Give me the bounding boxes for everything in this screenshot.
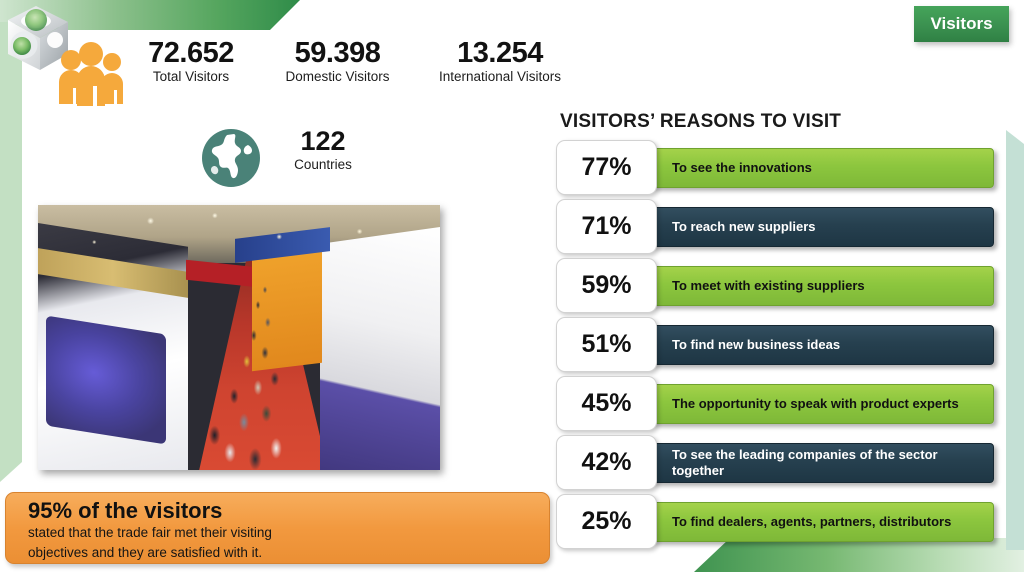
reason-row: To see the leading companies of the sect… [556, 435, 994, 490]
reason-bar: The opportunity to speak with product ex… [651, 384, 994, 424]
countries-text: 122 Countries [268, 127, 378, 172]
reason-row: To reach new suppliers 71% [556, 199, 994, 254]
stat-value: 13.254 [405, 38, 595, 68]
reason-row: To find new business ideas 51% [556, 317, 994, 372]
countries-value: 122 [268, 127, 378, 157]
reason-bar: To find new business ideas [651, 325, 994, 365]
stat-label: Total Visitors [131, 69, 251, 84]
photo-ceiling-lights [38, 205, 440, 470]
satisfaction-callout: 95% of the visitors stated that the trad… [5, 492, 550, 564]
reason-percent-card: 45% [556, 376, 657, 431]
stat-international-visitors: 13.254 International Visitors [405, 38, 595, 84]
reason-row: To find dealers, agents, partners, distr… [556, 494, 994, 549]
reason-text: To meet with existing suppliers [672, 278, 865, 294]
visitors-badge: Visitors [914, 6, 1009, 42]
reasons-list: To see the innovations 77% To reach new … [556, 140, 994, 553]
reason-text: To reach new suppliers [672, 219, 816, 235]
stat-total-visitors: 72.652 Total Visitors [131, 38, 251, 84]
left-green-strip [0, 22, 22, 482]
stat-domestic-visitors: 59.398 Domestic Visitors [260, 38, 415, 84]
reason-percent-card: 77% [556, 140, 657, 195]
callout-line-2: objectives and they are satisfied with i… [28, 544, 549, 563]
reason-bar: To reach new suppliers [651, 207, 994, 247]
visitor-stats: 72.652 Total Visitors 59.398 Domestic Vi… [55, 36, 555, 116]
stat-label: Domestic Visitors [260, 69, 415, 84]
stat-value: 72.652 [131, 38, 251, 68]
reason-percent-card: 71% [556, 199, 657, 254]
trade-fair-photo [38, 205, 440, 470]
reason-bar: To see the innovations [651, 148, 994, 188]
callout-line-1: stated that the trade fair met their vis… [28, 524, 549, 543]
reason-percent-card: 59% [556, 258, 657, 313]
right-mint-strip [994, 130, 1024, 550]
visitors-badge-label: Visitors [930, 14, 992, 34]
reason-bar: To see the leading companies of the sect… [651, 443, 994, 483]
callout-headline: 95% of the visitors [28, 498, 549, 523]
reason-text: To find dealers, agents, partners, distr… [672, 514, 951, 530]
reason-percent-card: 42% [556, 435, 657, 490]
reason-text: To see the leading companies of the sect… [672, 447, 983, 480]
reason-bar: To meet with existing suppliers [651, 266, 994, 306]
people-group-icon [55, 40, 127, 110]
reason-bar: To find dealers, agents, partners, distr… [651, 502, 994, 542]
stat-value: 59.398 [260, 38, 415, 68]
reason-row: The opportunity to speak with product ex… [556, 376, 994, 431]
reason-text: To find new business ideas [672, 337, 840, 353]
stat-label: International Visitors [405, 69, 595, 84]
stat-countries: 122 Countries [200, 127, 420, 189]
reason-percent-card: 51% [556, 317, 657, 372]
reason-text: To see the innovations [672, 160, 812, 176]
countries-label: Countries [268, 157, 378, 172]
reason-percent-card: 25% [556, 494, 657, 549]
reason-row: To meet with existing suppliers 59% [556, 258, 994, 313]
reasons-title: VISITORS’ REASONS TO VISIT [560, 111, 841, 133]
reason-text: The opportunity to speak with product ex… [672, 396, 959, 412]
globe-icon [200, 127, 262, 189]
reason-row: To see the innovations 77% [556, 140, 994, 195]
